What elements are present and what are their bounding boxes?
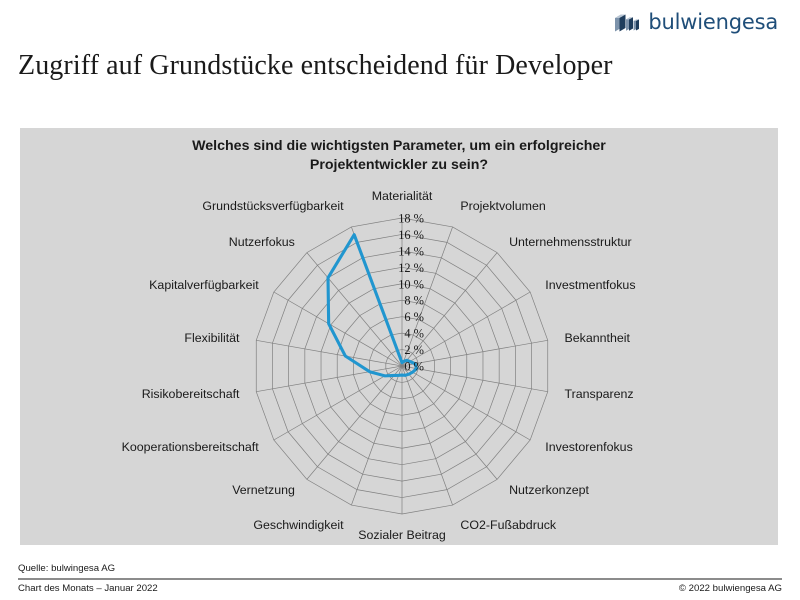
category-label: Nutzerfokus bbox=[229, 235, 295, 249]
bulwiengesa-logo: bulwiengesa bbox=[615, 8, 778, 36]
footer-divider bbox=[18, 578, 782, 580]
logo-wordmark: bulwiengesa bbox=[648, 10, 778, 34]
radial-tick-label: 16 % bbox=[398, 228, 424, 242]
radial-tick-label: 2 % bbox=[404, 343, 424, 357]
radial-tick-label: 4 % bbox=[404, 327, 424, 341]
category-label: Investmentfokus bbox=[545, 278, 635, 292]
chart-panel: Welches sind die wichtigsten Parameter, … bbox=[20, 128, 778, 545]
footer-copyright: © 2022 bulwiengesa AG bbox=[679, 583, 782, 594]
category-label: Nutzerkonzept bbox=[509, 483, 589, 497]
radial-tick-label: 10 % bbox=[398, 277, 424, 291]
radial-tick-label: 8 % bbox=[404, 294, 424, 308]
source-note: Quelle: bulwingesa AG bbox=[18, 563, 115, 574]
category-label: Investorenfokus bbox=[545, 440, 632, 454]
category-label: Vernetzung bbox=[232, 483, 295, 497]
category-label: Sozialer Beitrag bbox=[358, 528, 446, 542]
category-label: Grundstücksverfügbarkeit bbox=[202, 199, 344, 213]
radar-axis-spoke bbox=[402, 366, 453, 505]
category-label: Geschwindigkeit bbox=[253, 518, 344, 532]
bulwiengesa-bars-logo-icon bbox=[615, 10, 641, 34]
page-header: bulwiengesa bbox=[0, 0, 800, 44]
category-label: Bekanntheit bbox=[565, 331, 631, 345]
category-label: Projektvolumen bbox=[460, 199, 546, 213]
radial-tick-label: 14 % bbox=[398, 244, 424, 258]
radar-chart: 0 %2 %4 %6 %8 %10 %12 %14 %16 %18 % Mate… bbox=[20, 128, 778, 545]
radar-category-labels: MaterialitätProjektvolumenUnternehmensst… bbox=[122, 189, 636, 542]
category-label: Unternehmensstruktur bbox=[509, 235, 632, 249]
category-label: Transparenz bbox=[565, 387, 634, 401]
category-label: Kapitalverfügbarkeit bbox=[149, 278, 259, 292]
category-label: Flexibilität bbox=[184, 331, 240, 345]
category-label: Materialität bbox=[372, 189, 433, 203]
footer-left-text: Chart des Monats – Januar 2022 bbox=[18, 583, 158, 594]
category-label: CO2-Fußabdruck bbox=[460, 518, 557, 532]
radial-tick-label: 12 % bbox=[398, 261, 424, 275]
radial-tick-label: 18 % bbox=[398, 212, 424, 226]
category-label: Kooperationsbereitschaft bbox=[122, 440, 260, 454]
radial-tick-label: 6 % bbox=[404, 310, 424, 324]
radial-tick-label: 0 % bbox=[404, 360, 424, 374]
category-label: Risikobereitschaft bbox=[142, 387, 240, 401]
page-title: Zugriff auf Grundstücke entscheidend für… bbox=[18, 50, 778, 82]
radar-axis-spoke bbox=[351, 366, 402, 505]
